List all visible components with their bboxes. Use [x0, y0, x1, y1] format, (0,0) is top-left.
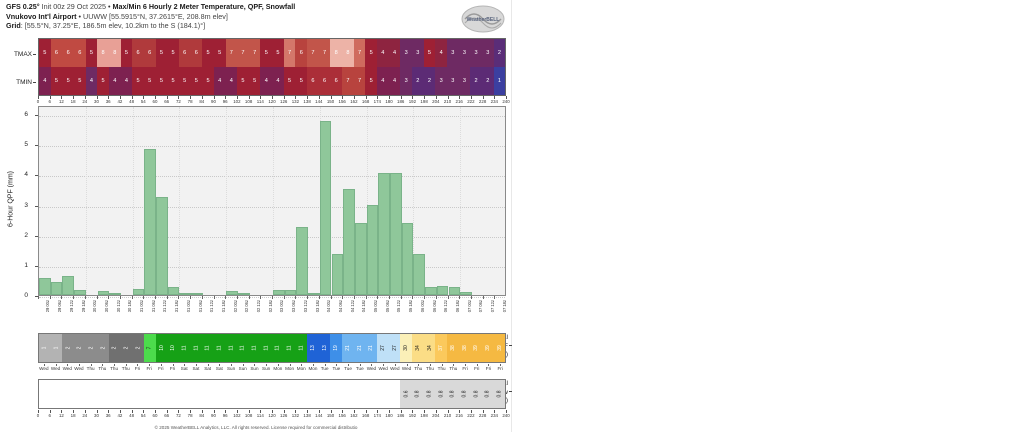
- total-qpf-value: 11: [193, 345, 199, 350]
- total-qpf-value: 39: [485, 345, 491, 351]
- qpf-bar: [460, 292, 472, 295]
- tmin-cell: 3: [435, 67, 447, 95]
- dow-label: Fri: [497, 366, 502, 371]
- temperature-row-labels: TMAXTMIN: [0, 38, 36, 100]
- total-qpf-value: 37: [438, 345, 444, 351]
- qpf-x-tick-label: 01 18z: [221, 300, 226, 312]
- temperature-grid-section: TMAXTMIN56665885665566557775576778875443…: [0, 38, 512, 100]
- hour-tick-label: 60: [153, 413, 158, 418]
- total-qpf-value: 11: [182, 345, 188, 350]
- total-qpf-value: 21: [345, 345, 351, 351]
- qpf-y-tick-mark: [35, 236, 38, 237]
- total-snow-cell: [167, 380, 179, 408]
- total-qpf-value: 27: [380, 345, 386, 351]
- total-qpf-value: 11: [252, 345, 258, 350]
- total-qpf-value: 11: [228, 345, 234, 350]
- qpf-x-tick: [307, 296, 308, 299]
- tmin-cell: 5: [132, 67, 144, 95]
- total-qpf-cell: 11: [237, 334, 249, 362]
- qpf-x-tick-label: 01 00z: [186, 300, 191, 312]
- qpf-x-axis: 29 00z29 06z29 12z29 18z30 00z30 06z30 1…: [38, 296, 506, 330]
- total-snow-cell: 0.8: [494, 380, 506, 408]
- tmax-cell: 5: [121, 39, 133, 67]
- dow-label: Fri: [170, 366, 175, 371]
- qpf-bar: [402, 223, 414, 295]
- hour-tick-label: 216: [456, 413, 463, 418]
- total-snow-value: 0.8: [485, 391, 491, 398]
- weatherbell-logo: WeatherBELL: [460, 4, 506, 34]
- total-snow-cell: [39, 380, 51, 408]
- qpf-y-tick-mark: [35, 206, 38, 207]
- tmax-cell: 4: [389, 39, 401, 67]
- total-snow-cell: [214, 380, 226, 408]
- hour-tick-label: 102: [233, 413, 240, 418]
- tmax-cell: 6: [295, 39, 307, 67]
- tmax-cell: 5: [260, 39, 272, 67]
- tmax-cell: 6: [51, 39, 63, 67]
- qpf-bar: [320, 121, 332, 295]
- tmax-cell: 6: [74, 39, 86, 67]
- total-snow-cell: [179, 380, 191, 408]
- tmin-cell: 4: [214, 67, 226, 95]
- temperature-grid: 5666588566556655777557677887544335433332…: [38, 38, 506, 96]
- total-snow-cell: 0.8: [459, 380, 471, 408]
- dow-label: Sun: [239, 366, 247, 371]
- dow-label: Tue: [344, 366, 352, 371]
- tmin-cell: 5: [74, 67, 86, 95]
- hour-tick-label: 198: [420, 413, 427, 418]
- qpf-vgridline: [133, 107, 134, 295]
- tmin-row: 4555454455555554455445566677544322333221: [39, 67, 505, 95]
- total-qpf-value: 13: [322, 345, 328, 351]
- qpf-x-tick-label: 02 18z: [268, 300, 273, 312]
- qpf-x-tick-label: 02 00z: [233, 300, 238, 312]
- hour-tick-label: 168: [362, 413, 369, 418]
- total-qpf-cell: 11: [249, 334, 261, 362]
- total-qpf-value: 11: [240, 345, 246, 350]
- qpf-x-tick: [225, 296, 226, 299]
- tmin-cell: 4: [389, 67, 401, 95]
- tmin-cell: 5: [51, 67, 63, 95]
- total-snow-cell: [191, 380, 203, 408]
- total-snow-cell: [365, 380, 377, 408]
- qpf-bar: [367, 205, 379, 295]
- qpf-x-tick-label: 04 18z: [361, 300, 366, 312]
- qpf-x-tick: [190, 296, 191, 299]
- total-qpf-cell: 11: [272, 334, 284, 362]
- hour-tick-label: 210: [444, 413, 451, 418]
- tmin-cell: 5: [237, 67, 249, 95]
- total-qpf-cell: 11: [202, 334, 214, 362]
- qpf-y-tick-mark: [35, 115, 38, 116]
- total-qpf-value: 21: [357, 345, 363, 351]
- qpf-x-tick: [108, 296, 109, 299]
- total-snow-cell: [144, 380, 156, 408]
- total-snow-strip: 0.60.80.80.80.80.80.80.80.8: [38, 379, 506, 409]
- total-snow-cell: [237, 380, 249, 408]
- qpf-gridline: [39, 237, 505, 238]
- qpf-bar: [390, 173, 402, 295]
- total-qpf-cell: 2: [109, 334, 121, 362]
- qpf-x-tick: [412, 296, 413, 299]
- dow-label: Wed: [74, 366, 83, 371]
- qpf-bar: [144, 149, 156, 295]
- total-qpf-cell: 39: [470, 334, 482, 362]
- tmax-cell: 4: [377, 39, 389, 67]
- qpf-vgridline: [460, 107, 461, 295]
- qpf-x-tick-label: 06 18z: [455, 300, 460, 312]
- total-qpf-value: 11: [217, 345, 223, 350]
- total-qpf-cell: 11: [295, 334, 307, 362]
- qpf-bar: [179, 293, 191, 295]
- qpf-gridline: [39, 116, 505, 117]
- total-qpf-cell: 13: [319, 334, 331, 362]
- total-qpf-value: 30: [403, 345, 409, 351]
- total-qpf-cell: 38: [459, 334, 471, 362]
- tmin-cell: 5: [97, 67, 109, 95]
- total-qpf-cell: 21: [354, 334, 366, 362]
- qpf-x-tick: [61, 296, 62, 299]
- svg-text:WeatherBELL: WeatherBELL: [467, 17, 500, 23]
- qpf-x-tick-label: 04 00z: [326, 300, 331, 312]
- qpf-x-tick: [377, 296, 378, 299]
- tmax-cell: 7: [226, 39, 238, 67]
- qpf-bar: [191, 293, 203, 295]
- dow-label: Sat: [216, 366, 223, 371]
- qpf-x-tick-label: 03 06z: [291, 300, 296, 312]
- qpf-x-tick: [483, 296, 484, 299]
- hour-tick-label: 84: [199, 413, 204, 418]
- total-qpf-cell: 1: [51, 334, 63, 362]
- dow-label: Tue: [321, 366, 329, 371]
- tmin-cell: 4: [121, 67, 133, 95]
- hour-tick-label: 144: [315, 413, 322, 418]
- qpf-y-tick-value: 1: [24, 262, 28, 269]
- qpf-vgridline: [226, 107, 227, 295]
- total-qpf-value: 27: [392, 345, 398, 351]
- qpf-x-tick: [237, 296, 238, 299]
- tmin-cell: 5: [167, 67, 179, 95]
- hour-tick-label: 114: [257, 413, 264, 418]
- station-id: UUWW [55.5915°N, 37.2615°E, 208.8m elev]: [83, 12, 228, 21]
- tmin-cell: 4: [260, 67, 272, 95]
- tmin-cell: 5: [179, 67, 191, 95]
- qpf-bar: [413, 254, 425, 295]
- qpf-x-tick: [366, 296, 367, 299]
- total-qpf-cell: 34: [412, 334, 424, 362]
- hour-tick-label: 42: [117, 413, 122, 418]
- tmax-cell: 3: [459, 39, 471, 67]
- dow-label: Thu: [122, 366, 130, 371]
- qpf-x-tick: [85, 296, 86, 299]
- qpf-x-tick-label: 05 06z: [385, 300, 390, 312]
- hour-tick-label: 228: [479, 413, 486, 418]
- dow-label: Tue: [332, 366, 340, 371]
- tmax-label: TMAX: [14, 51, 32, 58]
- hour-tick-label: 120: [268, 413, 275, 418]
- qpf-bar: [296, 227, 308, 295]
- panel-gfs: GFS 0.25° Init 00z 29 Oct 2025 • Max/Min…: [0, 0, 512, 432]
- qpf-x-tick: [132, 296, 133, 299]
- total-qpf-cell: 11: [191, 334, 203, 362]
- total-qpf-value: 34: [426, 345, 432, 351]
- total-snow-cell: 0.8: [435, 380, 447, 408]
- dow-label: Fri: [462, 366, 467, 371]
- total-qpf-cell: 34: [424, 334, 436, 362]
- dow-label: Sun: [227, 366, 235, 371]
- total-snow-value: 0.8: [461, 391, 467, 398]
- total-snow-cell: [86, 380, 98, 408]
- total-qpf-cell: 10: [156, 334, 168, 362]
- total-qpf-value: 1: [42, 347, 48, 350]
- hour-tick-label: 24: [82, 413, 87, 418]
- total-snow-cell: [272, 380, 284, 408]
- tmax-cell: 7: [249, 39, 261, 67]
- tmax-tick: [33, 54, 36, 55]
- total-snow-cell: [202, 380, 214, 408]
- header-line-station: Vnukovo Int'l Airport • UUWW [55.5915°N,…: [6, 12, 446, 22]
- dow-label: Wed: [51, 366, 60, 371]
- qpf-chart-section: 012345629 00z29 06z29 12z29 18z30 00z30 …: [0, 104, 512, 330]
- total-qpf-cell: 27: [389, 334, 401, 362]
- qpf-x-tick-label: 07 00z: [467, 300, 472, 312]
- init-time: Init 00z 29 Oct 2025: [40, 2, 108, 11]
- qpf-bar: [51, 282, 63, 295]
- total-qpf-cell: 38: [447, 334, 459, 362]
- qpf-x-tick-label: 04 06z: [338, 300, 343, 312]
- tmax-cell: 5: [202, 39, 214, 67]
- hour-tick-label: 30: [94, 413, 99, 418]
- total-qpf-cell: 7: [144, 334, 156, 362]
- dow-label: Fri: [146, 366, 151, 371]
- qpf-x-tick: [448, 296, 449, 299]
- panel-footer: © 2025 WeatherBELL Analytics, LLC. All r…: [0, 425, 512, 430]
- qpf-x-tick-label: 02 12z: [256, 300, 261, 312]
- tmax-cell: 6: [62, 39, 74, 67]
- dow-label: Wed: [39, 366, 48, 371]
- tmax-cell: 3: [482, 39, 494, 67]
- qpf-x-tick-label: 03 18z: [315, 300, 320, 312]
- hour-tick-label: 90: [211, 413, 216, 418]
- tmax-cell: 7: [237, 39, 249, 67]
- hour-tick-label: 192: [409, 413, 416, 418]
- dow-label: Thu: [98, 366, 106, 371]
- qpf-x-tick-label: 30 12z: [116, 300, 121, 312]
- dow-label: Thu: [110, 366, 118, 371]
- tmin-cell: 2: [424, 67, 436, 95]
- hour-tick-label: 222: [467, 413, 474, 418]
- hour-tick-label: 66: [164, 413, 169, 418]
- model-name: GFS 0.25°: [6, 2, 40, 11]
- qpf-x-tick-label: 05 18z: [408, 300, 413, 312]
- qpf-x-tick: [389, 296, 390, 299]
- qpf-bar: [378, 173, 390, 295]
- tmin-cell: 2: [482, 67, 494, 95]
- meteogram-root: GFS 0.25° Init 00z 29 Oct 2025 • Max/Min…: [0, 0, 1024, 432]
- qpf-x-tick: [436, 296, 437, 299]
- qpf-bar: [109, 293, 121, 295]
- tmax-cell: 7: [307, 39, 319, 67]
- total-qpf-value: 38: [461, 345, 467, 351]
- total-snow-tick: [509, 391, 512, 392]
- qpf-x-tick-label: 29 12z: [69, 300, 74, 312]
- qpf-x-tick-label: 30 00z: [92, 300, 97, 312]
- qpf-y-tick-value: 6: [24, 111, 28, 118]
- total-qpf-cell: 19: [330, 334, 342, 362]
- tmax-cell: 7: [284, 39, 296, 67]
- total-qpf-cell: 1: [39, 334, 51, 362]
- qpf-x-tick: [319, 296, 320, 299]
- total-qpf-value: 38: [450, 345, 456, 351]
- total-qpf-value: 2: [88, 347, 94, 350]
- hour-tick-label: 48: [129, 413, 134, 418]
- dow-label: Wed: [367, 366, 376, 371]
- tmin-cell: 4: [86, 67, 98, 95]
- qpf-x-tick-label: 31 12z: [162, 300, 167, 312]
- qpf-y-tick-value: 3: [24, 202, 28, 209]
- qpf-y-tick-value: 2: [24, 232, 28, 239]
- qpf-x-tick-label: 06 12z: [443, 300, 448, 312]
- qpf-x-tick: [202, 296, 203, 299]
- total-qpf-cell: 11: [226, 334, 238, 362]
- tmax-cell: 3: [470, 39, 482, 67]
- dow-label: Tue: [356, 366, 364, 371]
- qpf-gridline: [39, 146, 505, 147]
- total-qpf-value: 10: [170, 345, 176, 351]
- hour-tick-label: 54: [141, 413, 146, 418]
- tmin-cell: 5: [202, 67, 214, 95]
- total-qpf-cell: 2: [62, 334, 74, 362]
- qpf-bar: [425, 287, 437, 295]
- tmin-cell: 5: [295, 67, 307, 95]
- tmin-cell: 5: [144, 67, 156, 95]
- total-snow-cell: 0.8: [447, 380, 459, 408]
- total-qpf-value: 19: [333, 345, 339, 351]
- hour-tick-label: 132: [292, 413, 299, 418]
- total-snow-cell: [226, 380, 238, 408]
- qpf-x-tick: [284, 296, 285, 299]
- tmax-cell: 8: [97, 39, 109, 67]
- tmin-cell: 3: [400, 67, 412, 95]
- hour-tick-label: 234: [491, 413, 498, 418]
- qpf-x-tick: [295, 296, 296, 299]
- qpf-bar: [98, 291, 110, 295]
- total-qpf-value: 2: [112, 347, 118, 350]
- tmax-cell: 5: [272, 39, 284, 67]
- tmin-cell: 4: [226, 67, 238, 95]
- tmax-cell: 6: [191, 39, 203, 67]
- hour-tick-label: 6: [48, 413, 50, 418]
- total-qpf-value: 11: [205, 345, 211, 350]
- qpf-y-tick-mark: [35, 266, 38, 267]
- total-snow-cell: [330, 380, 342, 408]
- total-snow-cell: [307, 380, 319, 408]
- total-qpf-cell: 21: [365, 334, 377, 362]
- qpf-y-tick-mark: [35, 175, 38, 176]
- tmin-cell: 7: [354, 67, 366, 95]
- hour-tick-label: 12: [59, 413, 64, 418]
- total-qpf-value: 11: [287, 345, 293, 350]
- tmax-cell: 5: [365, 39, 377, 67]
- qpf-x-tick: [342, 296, 343, 299]
- tmin-cell: 5: [62, 67, 74, 95]
- total-qpf-cell: 10: [167, 334, 179, 362]
- qpf-vgridline: [179, 107, 180, 295]
- hour-tick-label: 96: [223, 413, 228, 418]
- qpf-x-tick-label: 01 06z: [198, 300, 203, 312]
- hour-tick-label: 240: [502, 413, 509, 418]
- qpf-bar: [226, 291, 238, 295]
- qpf-x-tick-label: 04 12z: [350, 300, 355, 312]
- tmin-label: TMIN: [16, 79, 32, 86]
- qpf-gridline: [39, 176, 505, 177]
- total-qpf-value: 10: [158, 345, 164, 351]
- qpf-x-tick-label: 31 06z: [151, 300, 156, 312]
- dow-label: Mon: [273, 366, 282, 371]
- grid-label: Grid: [6, 21, 21, 30]
- tmax-cell: 5: [214, 39, 226, 67]
- qpf-x-tick-label: 07 18z: [502, 300, 507, 312]
- total-snow-value: 0.8: [426, 391, 432, 398]
- qpf-x-tick-label: 01 12z: [209, 300, 214, 312]
- qpf-x-tick: [143, 296, 144, 299]
- qpf-bar: [285, 290, 297, 295]
- qpf-bar: [437, 286, 449, 295]
- qpf-x-tick-label: 31 18z: [174, 300, 179, 312]
- tmin-cell: 6: [307, 67, 319, 95]
- total-qpf-cell: 13: [307, 334, 319, 362]
- tmax-cell: 4: [435, 39, 447, 67]
- qpf-x-tick-label: 29 00z: [45, 300, 50, 312]
- qpf-bar: [39, 278, 51, 295]
- total-snow-value: 0.8: [496, 391, 502, 398]
- total-qpf-value: 2: [135, 347, 141, 350]
- total-qpf-cell: 37: [435, 334, 447, 362]
- panel-header: GFS 0.25° Init 00z 29 Oct 2025 • Max/Min…: [6, 2, 446, 31]
- qpf-x-tick: [272, 296, 273, 299]
- tmax-cell: 5: [86, 39, 98, 67]
- qpf-plot-area: [38, 106, 506, 296]
- qpf-bar: [238, 293, 250, 295]
- qpf-y-tick-mark: [35, 145, 38, 146]
- total-snow-cell: [295, 380, 307, 408]
- total-snow-cell: 0.8: [482, 380, 494, 408]
- qpf-bar: [273, 290, 285, 295]
- total-snow-value: 0.8: [473, 391, 479, 398]
- total-qpf-value: 13: [310, 345, 316, 351]
- tmax-cell: 6: [144, 39, 156, 67]
- qpf-y-tick-value: 5: [24, 141, 28, 148]
- total-qpf-value: 2: [100, 347, 106, 350]
- total-snow-cell: [284, 380, 296, 408]
- tmax-cell: 5: [424, 39, 436, 67]
- qpf-x-tick: [401, 296, 402, 299]
- grid-value: : [55.5°N, 37.25°E, 186.5m elev, 10.2km …: [21, 21, 205, 30]
- qpf-y-tick-value: 4: [24, 171, 28, 178]
- total-qpf-value: 11: [298, 345, 304, 350]
- qpf-x-tick-label: 29 06z: [57, 300, 62, 312]
- total-qpf-cell: 2: [121, 334, 133, 362]
- dow-label: Sat: [204, 366, 211, 371]
- total-qpf-value: 2: [123, 347, 129, 350]
- total-snow-cell: [51, 380, 63, 408]
- qpf-x-tick-label: 06 00z: [420, 300, 425, 312]
- tmin-cell: 1: [494, 67, 506, 95]
- chart-title: Max/Min 6 Hourly 2 Meter Temperature, QP…: [112, 2, 295, 11]
- qpf-x-tick-label: 05 00z: [373, 300, 378, 312]
- total-qpf-cell: 2: [132, 334, 144, 362]
- header-line-grid: Grid: [55.5°N, 37.25°E, 186.5m elev, 10.…: [6, 21, 446, 31]
